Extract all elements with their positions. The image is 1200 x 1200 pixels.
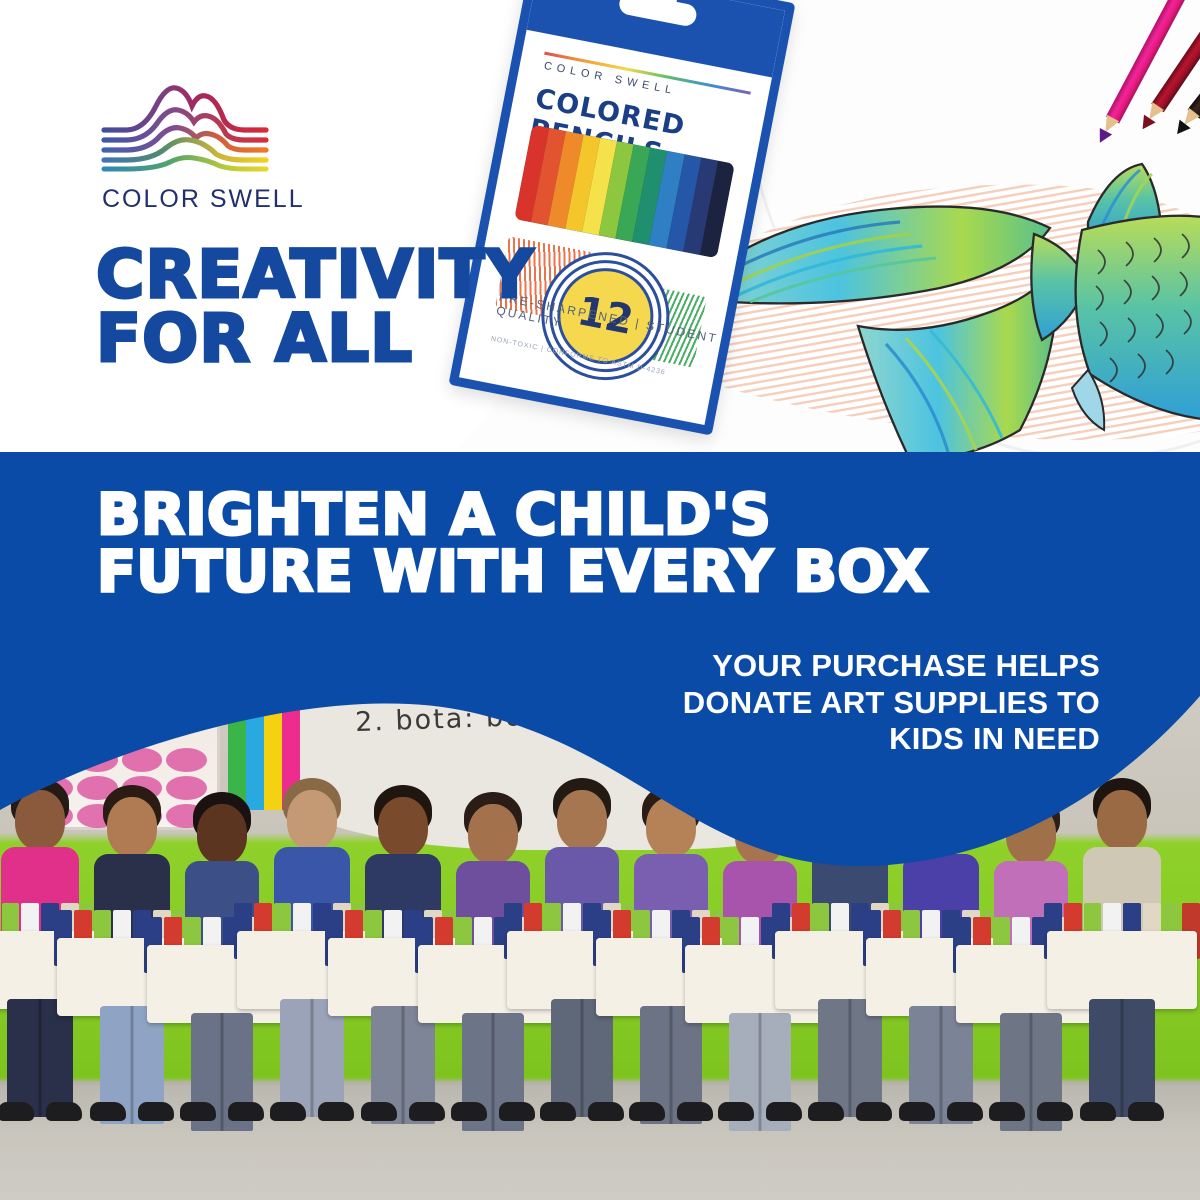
child-shoe-right bbox=[499, 1102, 535, 1121]
child-legs bbox=[818, 999, 882, 1117]
child-shoe-right bbox=[409, 1102, 445, 1121]
band-heading: BRIGHTEN A CHILD'S FUTURE WITH EVERY BOX bbox=[97, 487, 929, 601]
child-shoe-left bbox=[180, 1102, 216, 1121]
child-legs bbox=[280, 999, 344, 1117]
child-shoe-right bbox=[856, 1102, 892, 1121]
child-shoe-left bbox=[899, 1102, 935, 1121]
child-shoe-right bbox=[228, 1102, 264, 1121]
child-shoe-left bbox=[718, 1102, 754, 1121]
child-shoe-right bbox=[1037, 1102, 1073, 1121]
child-shoe-left bbox=[90, 1102, 126, 1121]
child-shoe-right bbox=[766, 1102, 802, 1121]
child-shoe-right bbox=[318, 1102, 354, 1121]
child-shoe-left bbox=[1080, 1102, 1116, 1121]
package-hang-hole bbox=[617, 0, 698, 28]
child-shoe-right bbox=[1128, 1102, 1164, 1121]
logo-wordmark: COLOR SWELL bbox=[102, 185, 290, 214]
band-subtext: YOUR PURCHASE HELPS DONATE ART SUPPLIES … bbox=[680, 648, 1100, 758]
child-shoe-left bbox=[629, 1102, 665, 1121]
child-shoe-right bbox=[947, 1102, 983, 1121]
child-shoe-left bbox=[451, 1102, 487, 1121]
child-shoe-right bbox=[46, 1102, 82, 1121]
child-shoe-right bbox=[677, 1102, 713, 1121]
child-shoe-left bbox=[540, 1102, 576, 1121]
hero-headline: CREATIVITY FOR ALL bbox=[96, 243, 534, 371]
fish-drawing bbox=[690, 130, 1200, 455]
child-shoe-left bbox=[361, 1102, 397, 1121]
supply-tray bbox=[1047, 931, 1197, 1009]
child-shoe-left bbox=[808, 1102, 844, 1121]
child-legs bbox=[551, 999, 613, 1117]
hero-section: COLOR SWELL COLORED PENCILS 12 PRE-SHARP… bbox=[0, 0, 1200, 455]
child-shoe-left bbox=[0, 1102, 34, 1121]
tray-scallop-edge bbox=[1047, 931, 1197, 961]
child-shoe-left bbox=[989, 1102, 1025, 1121]
child-shoe-left bbox=[270, 1102, 306, 1121]
child-legs bbox=[7, 999, 73, 1117]
child-shoe-right bbox=[588, 1102, 624, 1121]
promo-graphic: COLOR SWELL COLORED PENCILS 12 PRE-SHARP… bbox=[0, 0, 1200, 1200]
color-swell-logo: COLOR SWELL bbox=[100, 78, 290, 214]
swell-waves-logo-icon bbox=[100, 78, 275, 183]
child-legs bbox=[1089, 999, 1155, 1117]
child-shoe-right bbox=[138, 1102, 174, 1121]
